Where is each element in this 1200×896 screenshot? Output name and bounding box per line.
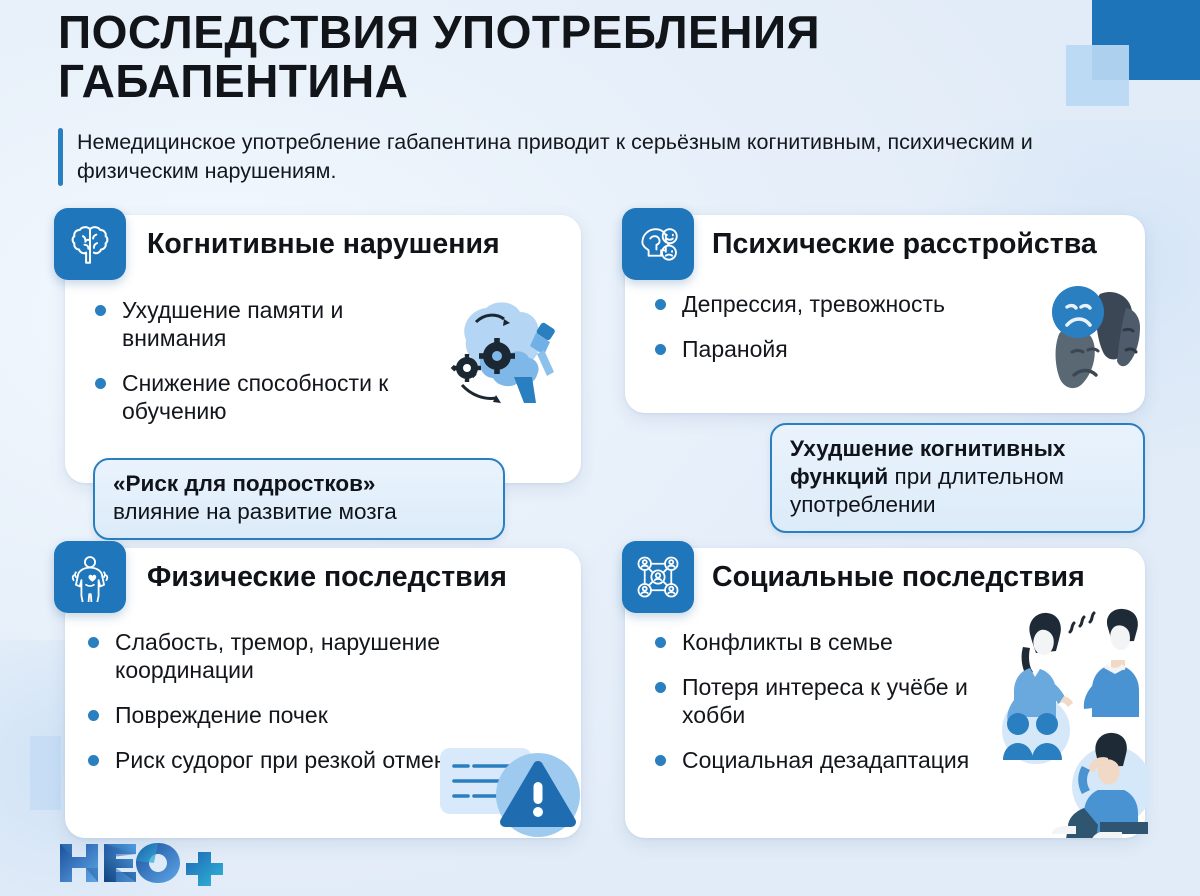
decorative-square-bottom-left bbox=[30, 736, 61, 810]
list-item: Повреждение почек bbox=[88, 701, 488, 729]
list-item: Снижение способности к обучению bbox=[95, 369, 425, 425]
page-subtitle: Немедицинское употребление габапентина п… bbox=[77, 128, 1037, 186]
bullet-list-psychiatric: Депрессия, тревожность Паранойя bbox=[655, 290, 1045, 363]
brain-icon bbox=[54, 208, 126, 280]
card-title-cognitive: Когнитивные нарушения bbox=[147, 228, 500, 261]
head-with-faces-icon bbox=[622, 208, 694, 280]
neo-plus-logo-glyphs bbox=[58, 840, 258, 886]
card-title-social: Социальные последствия bbox=[712, 561, 1085, 594]
neo-plus-logo bbox=[58, 840, 258, 886]
list-item: Депрессия, тревожность bbox=[655, 290, 1045, 318]
list-item: Риск судорог при резкой отмене bbox=[88, 746, 488, 774]
list-item: Ухудшение памяти и внимания bbox=[95, 296, 425, 352]
list-item: Социальная дезадаптация bbox=[655, 746, 985, 774]
header: ПОСЛЕДСТВИЯ УПОТРЕБЛЕНИЯ ГАБАПЕНТИНА Нем… bbox=[58, 8, 1058, 186]
bullet-list-social: Конфликты в семье Потеря интереса к учёб… bbox=[655, 628, 985, 774]
list-item: Конфликты в семье bbox=[655, 628, 985, 656]
callout-teen-normal: влияние на развитие мозга bbox=[113, 498, 485, 526]
card-title-psychiatric: Психические расстройства bbox=[712, 228, 1097, 261]
list-item: Слабость, тремор, нарушение координации bbox=[88, 628, 488, 684]
body-organs-icon bbox=[54, 541, 126, 613]
list-item: Потеря интереса к учёбе и хобби bbox=[655, 673, 985, 729]
subtitle-block: Немедицинское употребление габапентина п… bbox=[58, 128, 1058, 186]
page-title: ПОСЛЕДСТВИЯ УПОТРЕБЛЕНИЯ ГАБАПЕНТИНА bbox=[58, 8, 878, 106]
callout-teen-bold: «Риск для подростков» bbox=[113, 470, 485, 498]
card-title-physical: Физические последствия bbox=[147, 561, 507, 594]
decorative-square-light bbox=[1066, 45, 1129, 106]
bullet-list-physical: Слабость, тремор, нарушение координации … bbox=[88, 628, 488, 774]
bullet-list-cognitive: Ухудшение памяти и внимания Снижение спо… bbox=[95, 296, 425, 425]
infographic-poster: ПОСЛЕДСТВИЯ УПОТРЕБЛЕНИЯ ГАБАПЕНТИНА Нем… bbox=[0, 0, 1200, 896]
callout-long-term: Ухудшение когнитивных функций при длител… bbox=[770, 423, 1145, 533]
subtitle-accent-bar bbox=[58, 128, 63, 186]
callout-teen-risk: «Риск для подростков» влияние на развити… bbox=[93, 458, 505, 540]
callout-long-text: Ухудшение когнитивных функций при длител… bbox=[790, 435, 1125, 519]
people-network-icon bbox=[622, 541, 694, 613]
list-item: Паранойя bbox=[655, 335, 1045, 363]
